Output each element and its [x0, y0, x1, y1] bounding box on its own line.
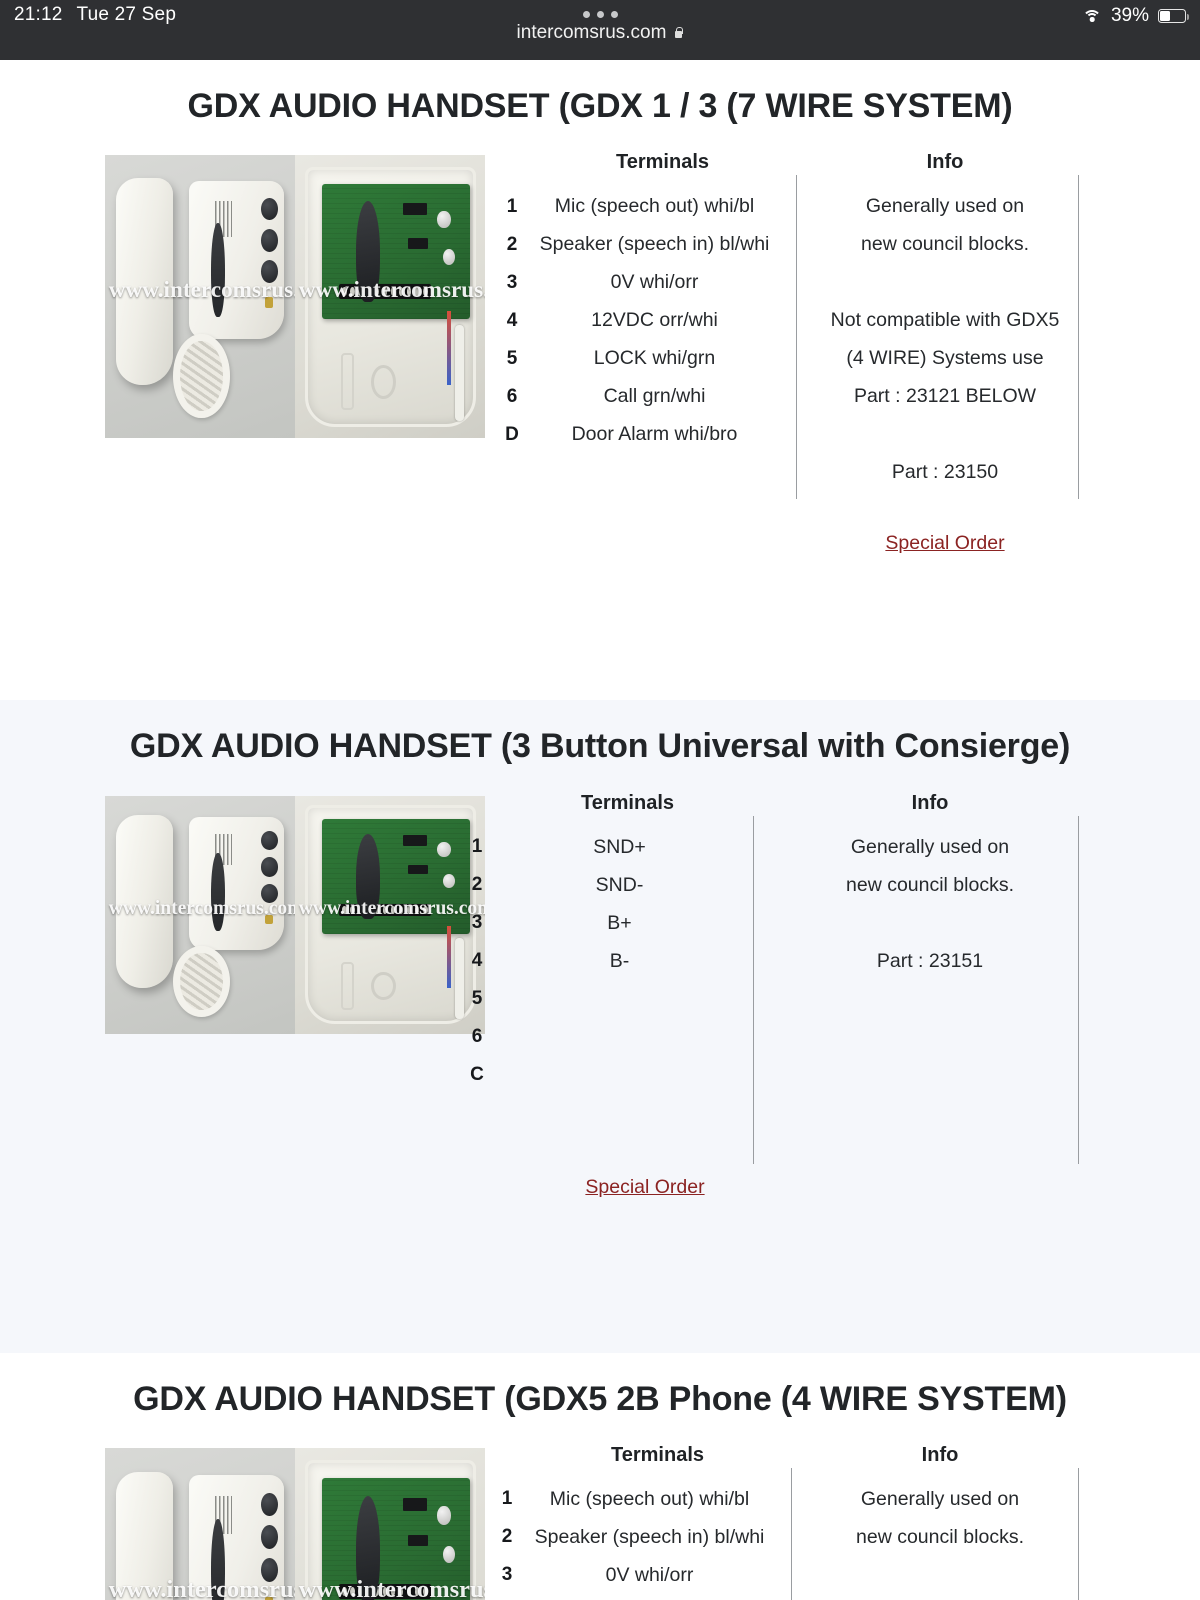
terminal-row: DDoor Alarm whi/bro	[492, 423, 777, 446]
column-divider	[753, 816, 754, 1164]
terminal-number: 4	[457, 950, 497, 972]
address-bar[interactable]: intercomsrus.com	[517, 22, 684, 44]
section-title: GDX AUDIO HANDSET (3 Button Universal wi…	[0, 700, 1200, 787]
wifi-icon	[1082, 9, 1102, 24]
terminal-number: 2	[457, 874, 497, 896]
product-section: GDX AUDIO HANDSET (GDX 1 / 3 (7 WIRE SYS…	[0, 60, 1200, 700]
handset-front-photo: www.intercomsrus.com	[105, 796, 295, 1034]
terminals-column-header: Terminals	[535, 1444, 780, 1467]
terminal-number: D	[492, 424, 532, 446]
terminal-value: Speaker (speech in) bl/whi	[527, 1526, 772, 1549]
info-column-header: Info	[815, 1444, 1065, 1467]
terminal-row: 6	[457, 1026, 742, 1048]
terminal-value: SND+	[497, 836, 742, 859]
terminal-row: 6Call grn/whi	[492, 385, 777, 408]
terminal-row: 2SND-	[457, 874, 742, 897]
info-line: Generally used on	[815, 1488, 1065, 1511]
info-line: new council blocks.	[815, 1526, 1065, 1549]
info-line: Part : 23151	[805, 950, 1055, 973]
terminal-row: C	[457, 1064, 742, 1086]
terminal-number: 5	[457, 988, 497, 1010]
column-divider	[791, 1468, 792, 1600]
terminal-number: 3	[487, 1564, 527, 1586]
section-title: GDX AUDIO HANDSET (GDX5 2B Phone (4 WIRE…	[0, 1353, 1200, 1440]
battery-percent-label: 39%	[1111, 5, 1149, 27]
handset-internals-photo: www.intercomsrus.com	[295, 155, 485, 438]
product-photo: www.intercomsrus.comwww.intercomsrus.com	[105, 1448, 485, 1600]
terminal-value: SND-	[497, 874, 742, 897]
special-order-link[interactable]: Special Order	[820, 532, 1070, 555]
terminal-value: Speaker (speech in) bl/whi	[532, 233, 777, 256]
info-line: new council blocks.	[805, 874, 1055, 897]
product-section: GDX AUDIO HANDSET (GDX5 2B Phone (4 WIRE…	[0, 1353, 1200, 1600]
column-divider	[796, 175, 797, 499]
terminal-number: 2	[487, 1526, 527, 1548]
product-section: GDX AUDIO HANDSET (3 Button Universal wi…	[0, 700, 1200, 1352]
status-right-group: 39%	[1082, 5, 1186, 27]
terminal-number: 1	[487, 1488, 527, 1510]
section-body: www.intercomsrus.comwww.intercomsrus.com…	[0, 1440, 1200, 1600]
column-divider	[1078, 816, 1079, 1164]
info-line: Part : 23150	[820, 461, 1070, 484]
product-photo: www.intercomsrus.comwww.intercomsrus.com	[105, 155, 485, 438]
terminal-row: 4B-	[457, 950, 742, 973]
terminal-row: 5	[457, 988, 742, 1010]
info-column-header: Info	[820, 151, 1070, 174]
info-column-header: Info	[805, 792, 1055, 815]
terminal-number: 4	[492, 310, 532, 332]
info-line: Part : 23121 BELOW	[820, 385, 1070, 408]
terminal-row: 3B+	[457, 912, 742, 935]
info-line: new council blocks.	[820, 233, 1070, 256]
terminal-row: 1SND+	[457, 836, 742, 859]
terminal-value: B+	[497, 912, 742, 935]
three-dots-icon[interactable]	[583, 11, 618, 18]
terminal-number: 3	[492, 272, 532, 294]
terminal-number: 1	[492, 196, 532, 218]
terminal-value: Call grn/whi	[532, 385, 777, 408]
terminal-row: 2Speaker (speech in) bl/whi	[487, 1526, 772, 1549]
terminal-row: 2Speaker (speech in) bl/whi	[492, 233, 777, 256]
terminals-column-header: Terminals	[505, 792, 750, 815]
terminal-number: 5	[492, 348, 532, 370]
terminals-column-header: Terminals	[540, 151, 785, 174]
product-photo: www.intercomsrus.comwww.intercomsrus.com	[105, 796, 485, 1034]
terminal-row: 1Mic (speech out) whi/bl	[487, 1488, 772, 1511]
section-body: www.intercomsrus.comwww.intercomsrus.com…	[0, 788, 1200, 1353]
terminal-value: 0V whi/orr	[532, 271, 777, 294]
terminal-number: 6	[492, 386, 532, 408]
terminal-number: 1	[457, 836, 497, 858]
terminal-value: Door Alarm whi/bro	[532, 423, 777, 446]
terminal-number: 2	[492, 234, 532, 256]
terminal-value: LOCK whi/grn	[532, 347, 777, 370]
handset-front-photo: www.intercomsrus.com	[105, 155, 295, 438]
ipad-status-bar: 21:12 Tue 27 Sep intercomsrus.com 39%	[0, 0, 1200, 60]
info-line: Not compatible with GDX5	[820, 309, 1070, 332]
column-divider	[1078, 1468, 1079, 1600]
terminal-value: B-	[497, 950, 742, 973]
terminal-row: 1Mic (speech out) whi/bl	[492, 195, 777, 218]
page-content: GDX AUDIO HANDSET (GDX 1 / 3 (7 WIRE SYS…	[0, 60, 1200, 1600]
info-line: Generally used on	[820, 195, 1070, 218]
section-title: GDX AUDIO HANDSET (GDX 1 / 3 (7 WIRE SYS…	[0, 60, 1200, 147]
terminal-value: 0V whi/orr	[527, 1564, 772, 1587]
lock-icon	[673, 27, 683, 40]
url-text: intercomsrus.com	[517, 22, 667, 44]
terminal-number: 6	[457, 1026, 497, 1048]
terminal-value: Mic (speech out) whi/bl	[532, 195, 777, 218]
special-order-link[interactable]: Special Order	[505, 1176, 785, 1199]
terminal-value: Mic (speech out) whi/bl	[527, 1488, 772, 1511]
terminal-value: 12VDC orr/whi	[532, 309, 777, 332]
battery-icon	[1158, 9, 1186, 23]
section-body: www.intercomsrus.comwww.intercomsrus.com…	[0, 147, 1200, 700]
terminal-row: 412VDC orr/whi	[492, 309, 777, 332]
terminal-row: 30V whi/orr	[487, 1564, 772, 1587]
terminal-row: 30V whi/orr	[492, 271, 777, 294]
info-line: (4 WIRE) Systems use	[820, 347, 1070, 370]
terminal-number: C	[457, 1064, 497, 1086]
browser-url-group[interactable]: intercomsrus.com	[0, 2, 1200, 44]
handset-internals-photo: www.intercomsrus.com	[295, 1448, 485, 1600]
info-line: Generally used on	[805, 836, 1055, 859]
terminal-number: 3	[457, 912, 497, 934]
terminal-row: 5LOCK whi/grn	[492, 347, 777, 370]
handset-front-photo: www.intercomsrus.com	[105, 1448, 295, 1600]
column-divider	[1078, 175, 1079, 499]
